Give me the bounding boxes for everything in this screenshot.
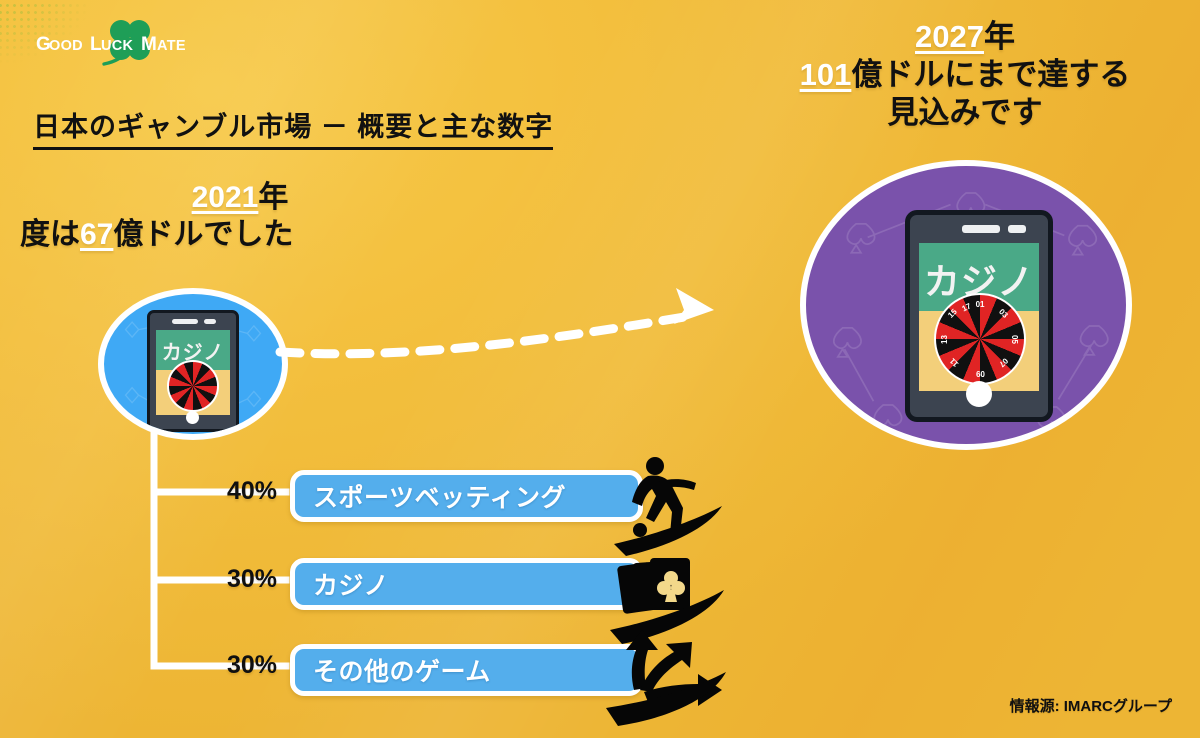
stat-2027-suffix: 億ドルにまで達する bbox=[851, 57, 1130, 92]
speaker-bar bbox=[172, 319, 198, 324]
stat-2021-year-suffix: 年 bbox=[258, 181, 288, 214]
bar-0[interactable]: スポーツベッティング bbox=[290, 470, 643, 522]
bar-1[interactable]: カジノ bbox=[290, 558, 643, 610]
stat-2027: 2027年 101億ドルにまで達する 見込みです bbox=[745, 18, 1185, 131]
stat-2021-year: 2021 bbox=[192, 181, 259, 214]
stat-2027-year: 2027 bbox=[915, 19, 984, 54]
svg-text:M: M bbox=[141, 34, 157, 55]
camera-dot bbox=[1008, 225, 1026, 233]
infographic-canvas: G OOD L UCK M ATE 日本のギャンブル市場 － 概要と主な数字 2… bbox=[0, 0, 1200, 738]
home-button bbox=[186, 411, 199, 424]
phone-screen: カジノ 01 03 05 07 09 11 13 15 17 bbox=[919, 243, 1039, 391]
connector-lines bbox=[150, 430, 310, 680]
stat-2021: 2021年 度は67億ドルでした bbox=[20, 180, 420, 253]
bar-value-1: 30% bbox=[205, 565, 277, 594]
phone-screen: カジノ bbox=[156, 330, 230, 415]
roulette-wheel bbox=[167, 360, 219, 412]
speaker-bar bbox=[962, 225, 1000, 233]
bar-label-2: その他のゲーム bbox=[313, 652, 491, 688]
club-symbol bbox=[657, 571, 685, 602]
phone-mockup-large: カジノ 01 03 05 07 09 11 13 15 17 bbox=[905, 210, 1053, 422]
source-note: 情報源: IMARCグループ bbox=[1010, 695, 1172, 716]
stat-2027-value: 101 bbox=[800, 57, 852, 92]
bar-2[interactable]: その他のゲーム bbox=[290, 644, 643, 696]
blue-circle-2021: カジノ bbox=[98, 288, 288, 440]
bar-label-1: カジノ bbox=[313, 566, 389, 602]
page-title: 日本のギャンブル市場 － 概要と主な数字 bbox=[33, 105, 553, 150]
svg-text:OOD: OOD bbox=[49, 38, 83, 54]
stat-2021-value: 67 bbox=[80, 218, 113, 251]
svg-text:ATE: ATE bbox=[157, 38, 186, 54]
stat-2027-line3: 見込みです bbox=[745, 94, 1185, 132]
purple-circle-2027: カジノ 01 03 05 07 09 11 13 15 17 bbox=[800, 160, 1132, 450]
stat-2027-year-suffix: 年 bbox=[984, 19, 1015, 54]
bar-value-0: 40% bbox=[205, 477, 277, 506]
phone-mockup-small: カジノ bbox=[147, 310, 239, 432]
bar-label-0: スポーツベッティング bbox=[313, 478, 566, 514]
bar-value-2: 30% bbox=[205, 651, 277, 680]
dashed-growth-arrow bbox=[270, 280, 810, 390]
brand-logo[interactable]: G OOD L UCK M ATE bbox=[18, 18, 248, 76]
roulette-wheel: 01 03 05 07 09 11 13 15 17 bbox=[934, 293, 1026, 385]
stat-2021-suffix: 億ドルでした bbox=[113, 218, 293, 251]
stat-2021-prefix: 度は bbox=[20, 218, 80, 251]
home-button bbox=[966, 381, 992, 407]
camera-dot bbox=[204, 319, 216, 324]
svg-text:UCK: UCK bbox=[101, 38, 134, 54]
